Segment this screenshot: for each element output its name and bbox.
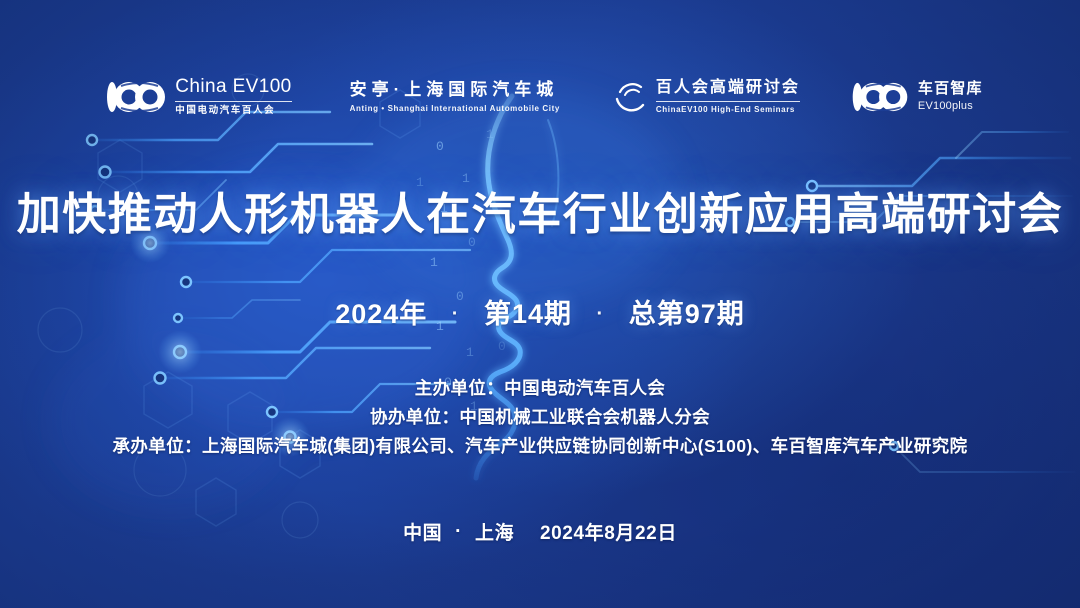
logo-divider bbox=[656, 101, 800, 102]
logo-china-ev100-cn: 中国电动汽车百人会 bbox=[175, 105, 291, 117]
issue-line: 2024年 · 第14期 · 总第97期 bbox=[0, 292, 1080, 331]
logo-china-ev100-en: China EV100 bbox=[175, 77, 291, 98]
logo-high-end-seminars-cn: 百人会高端研讨会 bbox=[656, 79, 800, 97]
conference-poster: 0 1 1 0 1 0 1 1 0 1 1 0 1 0 bbox=[0, 0, 1080, 608]
issue-number: 第14期 bbox=[484, 299, 572, 329]
event-location-date: 中国 · 上海 2024年8月22日 bbox=[0, 518, 1080, 545]
logo-china-ev100-text: China EV100 中国电动汽车百人会 bbox=[175, 77, 291, 117]
organizers-block: 主办单位：中国电动汽车百人会 协办单位：中国机械工业联合会机器人分会 承办单位：… bbox=[0, 374, 1080, 461]
logo-ev100plus-text: 车百智库 EV100plus bbox=[918, 80, 983, 114]
logo-ev100plus: 车百智库 EV100plus bbox=[850, 80, 983, 114]
logo-high-end-seminars: 百人会高端研讨会 ChinaEV100 High-End Seminars bbox=[614, 79, 800, 115]
event-city: 上海 bbox=[475, 523, 514, 544]
issue-separator-2: · bbox=[597, 303, 605, 326]
logo-anting-saic-en: Anting • Shanghai International Automobi… bbox=[350, 104, 560, 114]
issue-total: 总第97期 bbox=[629, 299, 745, 329]
logo-divider bbox=[175, 101, 291, 102]
logo-anting-saic-text: 安亭·上海国际汽车城 Anting • Shanghai Internation… bbox=[350, 80, 560, 115]
logo-ev100plus-en: EV100plus bbox=[918, 99, 983, 113]
organizer-undertaker: 承办单位：上海国际汽车城(集团)有限公司、汽车产业供应链协同创新中心(S100)… bbox=[0, 432, 1080, 461]
ev100-infinity-icon bbox=[105, 80, 167, 114]
page-title: 加快推动人形机器人在汽车行业创新应用高端研讨会 bbox=[0, 178, 1080, 242]
logo-anting-saic: 安亭·上海国际汽车城 Anting • Shanghai Internation… bbox=[350, 80, 560, 115]
logo-anting-saic-cn: 安亭·上海国际汽车城 bbox=[350, 80, 560, 100]
organizer-host: 主办单位：中国电动汽车百人会 bbox=[0, 374, 1080, 403]
logo-high-end-seminars-text: 百人会高端研讨会 ChinaEV100 High-End Seminars bbox=[656, 79, 800, 115]
logo-high-end-seminars-en: ChinaEV100 High-End Seminars bbox=[656, 105, 800, 115]
event-date: 2024年8月22日 bbox=[540, 523, 677, 544]
footer-separator: · bbox=[455, 521, 462, 543]
issue-separator-1: · bbox=[452, 303, 460, 326]
organizer-co-host: 协办单位：中国机械工业联合会机器人分会 bbox=[0, 403, 1080, 432]
ev100-infinity-icon bbox=[850, 81, 910, 113]
logo-china-ev100: China EV100 中国电动汽车百人会 bbox=[105, 77, 291, 117]
issue-year: 2024年 bbox=[335, 299, 427, 329]
logo-bar: China EV100 中国电动汽车百人会 安亭·上海国际汽车城 Anting … bbox=[0, 66, 1080, 128]
logo-ev100plus-cn: 车百智库 bbox=[918, 80, 983, 97]
event-country: 中国 bbox=[403, 523, 442, 544]
swoosh-arc-icon bbox=[614, 80, 648, 114]
